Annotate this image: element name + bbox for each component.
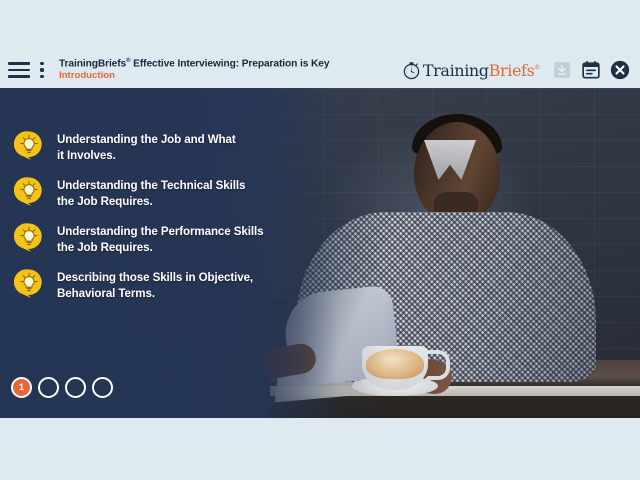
list-item-line-2: the Job Requires. xyxy=(57,240,263,256)
lightbulb-speech-bubble-icon xyxy=(14,176,44,206)
pagination-dot-2[interactable] xyxy=(38,377,59,398)
header-actions xyxy=(552,60,630,80)
trainingbriefs-logo: TrainingBriefs® xyxy=(402,61,540,80)
list-item: Understanding the Job and What it Involv… xyxy=(14,132,286,163)
hamburger-line xyxy=(8,62,30,65)
stopwatch-icon xyxy=(402,61,421,80)
brand-word-training: Training xyxy=(423,61,489,80)
hamburger-line xyxy=(8,75,30,78)
list-item-text: Describing those Skills in Objective, Be… xyxy=(57,270,253,301)
list-item-text: Understanding the Technical Skills the J… xyxy=(57,178,245,209)
list-item-line-1: Understanding the Job and What xyxy=(57,132,236,148)
pagination-dot-1[interactable]: 1 xyxy=(11,377,32,398)
list-item-text: Understanding the Job and What it Involv… xyxy=(57,132,236,163)
course-title: TrainingBriefs® Effective Interviewing: … xyxy=(59,58,402,70)
hamburger-menu-icon[interactable] xyxy=(8,62,30,78)
list-item-line-1: Describing those Skills in Objective, xyxy=(57,270,253,286)
course-title-rest: Effective Interviewing: Preparation is K… xyxy=(130,59,329,70)
lightbulb-speech-bubble-icon xyxy=(14,222,44,252)
brand-registered-mark: ® xyxy=(534,64,540,71)
notes-button[interactable] xyxy=(581,60,601,80)
kebab-dot xyxy=(40,68,43,71)
hamburger-line xyxy=(8,69,30,72)
lightbulb-speech-bubble-icon xyxy=(14,130,44,160)
kebab-dot xyxy=(40,62,43,65)
kebab-menu-icon[interactable] xyxy=(35,62,49,78)
pagination-dot-3[interactable] xyxy=(65,377,86,398)
list-item-line-2: Behavioral Terms. xyxy=(57,286,253,302)
brand-word-briefs: Briefs xyxy=(489,61,535,80)
list-item: Understanding the Performance Skills the… xyxy=(14,224,286,255)
list-item: Describing those Skills in Objective, Be… xyxy=(14,270,286,301)
bullet-list: Understanding the Job and What it Involv… xyxy=(14,132,286,316)
slide-stage: Understanding the Job and What it Involv… xyxy=(0,88,640,418)
list-item-line-2: the Job Requires. xyxy=(57,194,245,210)
pagination-dot-4[interactable] xyxy=(92,377,113,398)
player-header: TrainingBriefs® Effective Interviewing: … xyxy=(0,52,640,88)
list-item-line-1: Understanding the Technical Skills xyxy=(57,178,245,194)
kebab-dot xyxy=(40,75,43,78)
pagination: 1 xyxy=(11,377,113,398)
header-titles: TrainingBriefs® Effective Interviewing: … xyxy=(59,58,402,82)
list-item-line-1: Understanding the Performance Skills xyxy=(57,224,263,240)
lightbulb-speech-bubble-icon xyxy=(14,268,44,298)
course-title-brand: TrainingBriefs xyxy=(59,59,126,70)
download-button[interactable] xyxy=(552,60,572,80)
app-window: TrainingBriefs® Effective Interviewing: … xyxy=(0,0,640,480)
list-item: Understanding the Technical Skills the J… xyxy=(14,178,286,209)
list-item-text: Understanding the Performance Skills the… xyxy=(57,224,263,255)
close-button[interactable] xyxy=(610,60,630,80)
list-item-line-2: it Involves. xyxy=(57,148,236,164)
brand-wordmark: TrainingBriefs® xyxy=(423,61,540,80)
section-title: Introduction xyxy=(59,71,402,82)
